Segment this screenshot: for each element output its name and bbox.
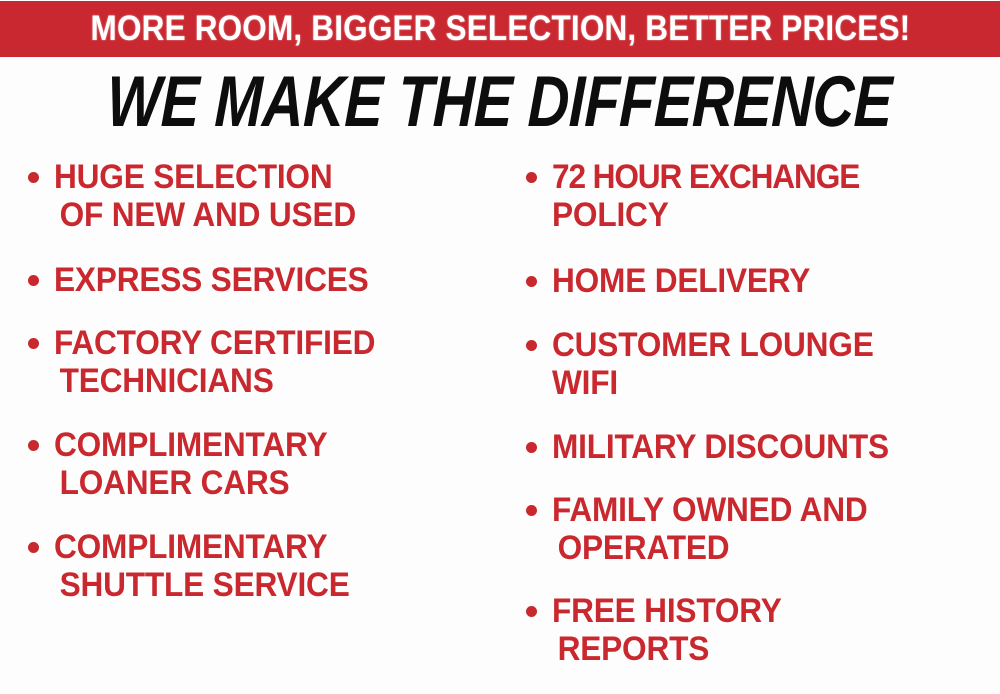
list-item-line: COMPLIMENTARY (54, 426, 469, 464)
list-item-line: WIFI (552, 364, 969, 402)
list-item-line: POLICY (552, 196, 969, 234)
bullet-dot-icon (526, 276, 537, 287)
list-item-line: FACTORY CERTIFIED (54, 324, 469, 362)
bullet-dot-icon (28, 275, 39, 286)
bullet-dot-icon (526, 442, 537, 453)
benefits-column-right: 72 HOUR EXCHANGE POLICY HOME DELIVERY CU… (518, 158, 1000, 668)
bullet-dot-icon (28, 440, 39, 451)
list-item-line: MILITARY DISCOUNTS (552, 428, 969, 466)
list-item-line: OF NEW AND USED (54, 196, 469, 234)
banner-headline-text: MORE ROOM, BIGGER SELECTION, BETTER PRIC… (90, 9, 910, 49)
list-item: EXPRESS SERVICES (20, 261, 500, 299)
list-item-line: REPORTS (552, 630, 969, 668)
list-item: HOME DELIVERY (518, 262, 1000, 300)
promo-poster: MORE ROOM, BIGGER SELECTION, BETTER PRIC… (0, 0, 1000, 694)
bullet-dot-icon (28, 542, 39, 553)
list-item-line: FAMILY OWNED AND (552, 491, 969, 529)
list-item-line: OPERATED (552, 529, 969, 567)
list-item-line: HOME DELIVERY (552, 262, 969, 300)
list-item: FREE HISTORY REPORTS (518, 592, 1000, 668)
list-item-line: CUSTOMER LOUNGE (552, 326, 969, 364)
bullet-dot-icon (28, 338, 39, 349)
list-item: FACTORY CERTIFIED TECHNICIANS (20, 324, 500, 400)
list-item: MILITARY DISCOUNTS (518, 428, 1000, 466)
list-item: COMPLIMENTARY LOANER CARS (20, 426, 500, 502)
page-title: WE MAKE THE DIFFERENCE (0, 66, 1000, 138)
list-item: FAMILY OWNED AND OPERATED (518, 491, 1000, 567)
list-item-line: HUGE SELECTION (54, 158, 469, 196)
list-item-line: TECHNICIANS (54, 362, 469, 400)
list-item-line: LOANER CARS (54, 464, 469, 502)
list-item-line: 72 HOUR EXCHANGE (552, 158, 969, 196)
list-item: CUSTOMER LOUNGE WIFI (518, 326, 1000, 402)
bullet-dot-icon (526, 606, 537, 617)
bullet-dot-icon (526, 505, 537, 516)
list-item-line: SHUTTLE SERVICE (54, 566, 469, 604)
bullet-dot-icon (28, 172, 39, 183)
page-title-text: WE MAKE THE DIFFERENCE (107, 66, 894, 138)
list-item: HUGE SELECTION OF NEW AND USED (20, 158, 500, 234)
list-item-line: EXPRESS SERVICES (54, 261, 469, 299)
bullet-dot-icon (526, 340, 537, 351)
top-banner: MORE ROOM, BIGGER SELECTION, BETTER PRIC… (0, 1, 1000, 57)
list-item-line: COMPLIMENTARY (54, 528, 469, 566)
list-item: COMPLIMENTARY SHUTTLE SERVICE (20, 528, 500, 604)
benefits-column-left: HUGE SELECTION OF NEW AND USED EXPRESS S… (20, 158, 500, 604)
bullet-dot-icon (526, 172, 537, 183)
list-item-line: FREE HISTORY (552, 592, 969, 630)
list-item: 72 HOUR EXCHANGE POLICY (518, 158, 1000, 234)
